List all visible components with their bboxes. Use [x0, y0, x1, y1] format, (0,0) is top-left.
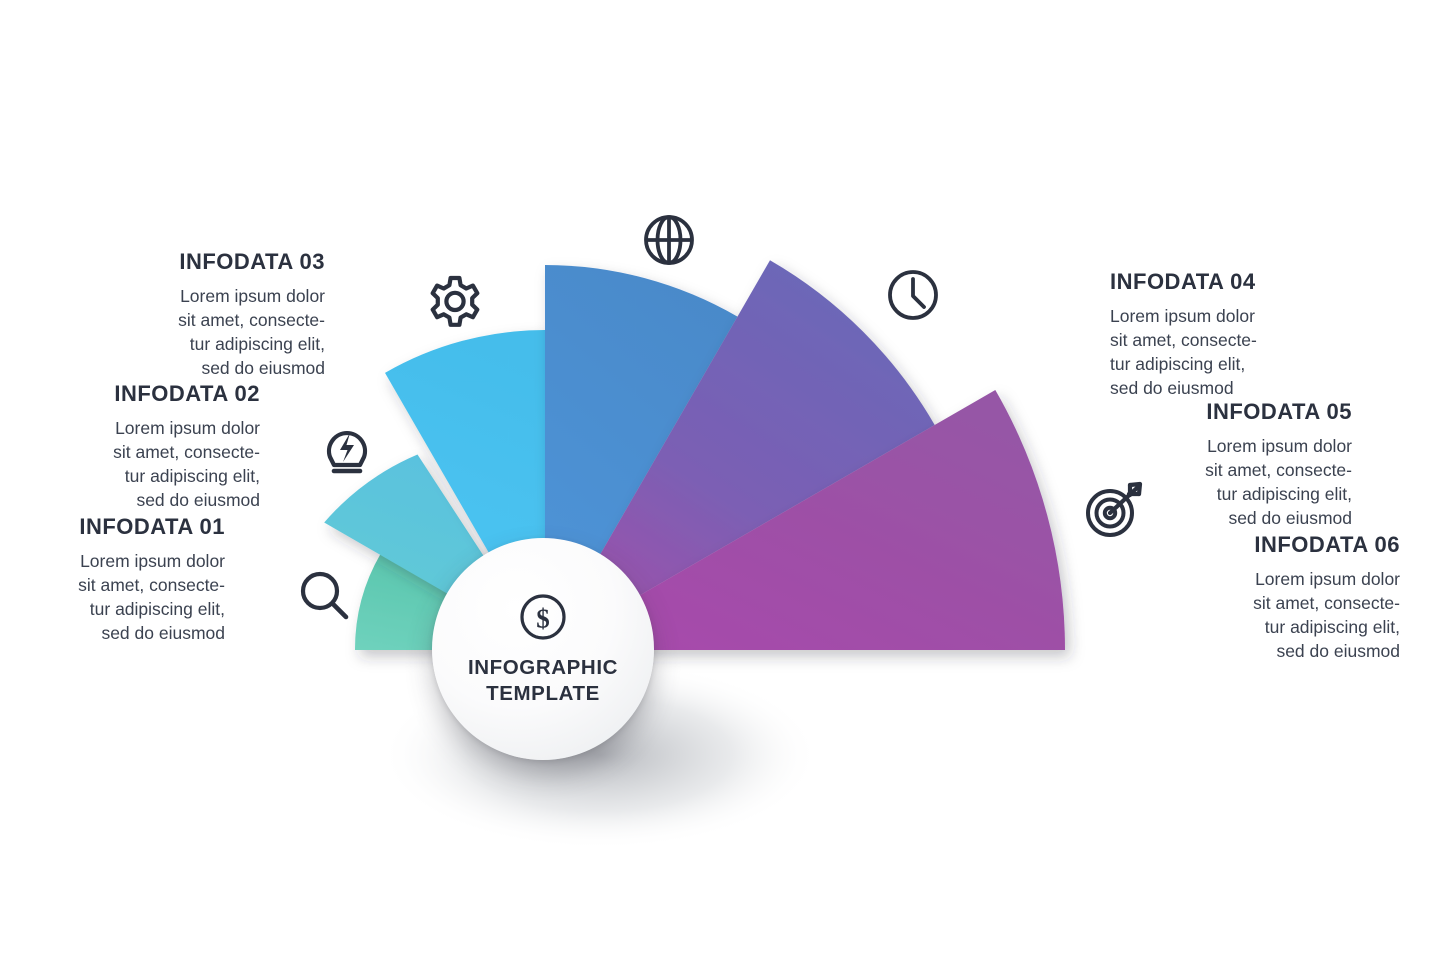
info-title-03: INFODATA 03 [40, 249, 325, 275]
gear-icon [422, 270, 488, 336]
globe-icon [638, 209, 700, 271]
hub-title-line2: TEMPLATE [468, 681, 618, 707]
svg-text:$: $ [536, 603, 550, 633]
clock-icon [882, 264, 944, 326]
info-body-03: Lorem ipsum dolor sit amet, consecte- tu… [40, 284, 325, 381]
lightbulb-icon [318, 419, 376, 481]
info-block-03: INFODATA 03 Lorem ipsum dolor sit amet, … [40, 249, 325, 381]
infographic-canvas: $ INFOGRAPHIC TEMPLATE INFODATA 03 Lorem… [0, 0, 1435, 980]
info-title-04: INFODATA 04 [1110, 269, 1410, 295]
info-block-01: INFODATA 01 Lorem ipsum dolor sit amet, … [18, 514, 225, 646]
center-hub[interactable]: $ INFOGRAPHIC TEMPLATE [432, 538, 654, 760]
info-block-02: INFODATA 02 Lorem ipsum dolor sit amet, … [40, 381, 260, 513]
info-body-02: Lorem ipsum dolor sit amet, consecte- tu… [40, 416, 260, 513]
info-title-02: INFODATA 02 [40, 381, 260, 407]
info-block-06: INFODATA 06 Lorem ipsum dolor sit amet, … [1110, 532, 1400, 664]
info-body-06: Lorem ipsum dolor sit amet, consecte- tu… [1110, 567, 1400, 664]
info-body-01: Lorem ipsum dolor sit amet, consecte- tu… [18, 549, 225, 646]
info-title-05: INFODATA 05 [1085, 399, 1352, 425]
hub-title-line1: INFOGRAPHIC [468, 655, 618, 681]
info-body-04: Lorem ipsum dolor sit amet, consecte- tu… [1110, 304, 1410, 401]
target-icon [1082, 477, 1148, 543]
info-title-06: INFODATA 06 [1110, 532, 1400, 558]
search-icon [294, 566, 356, 628]
dollar-circle-icon: $ [517, 591, 569, 643]
info-block-04: INFODATA 04 Lorem ipsum dolor sit amet, … [1110, 269, 1410, 401]
info-title-01: INFODATA 01 [18, 514, 225, 540]
hub-title: INFOGRAPHIC TEMPLATE [468, 655, 618, 707]
